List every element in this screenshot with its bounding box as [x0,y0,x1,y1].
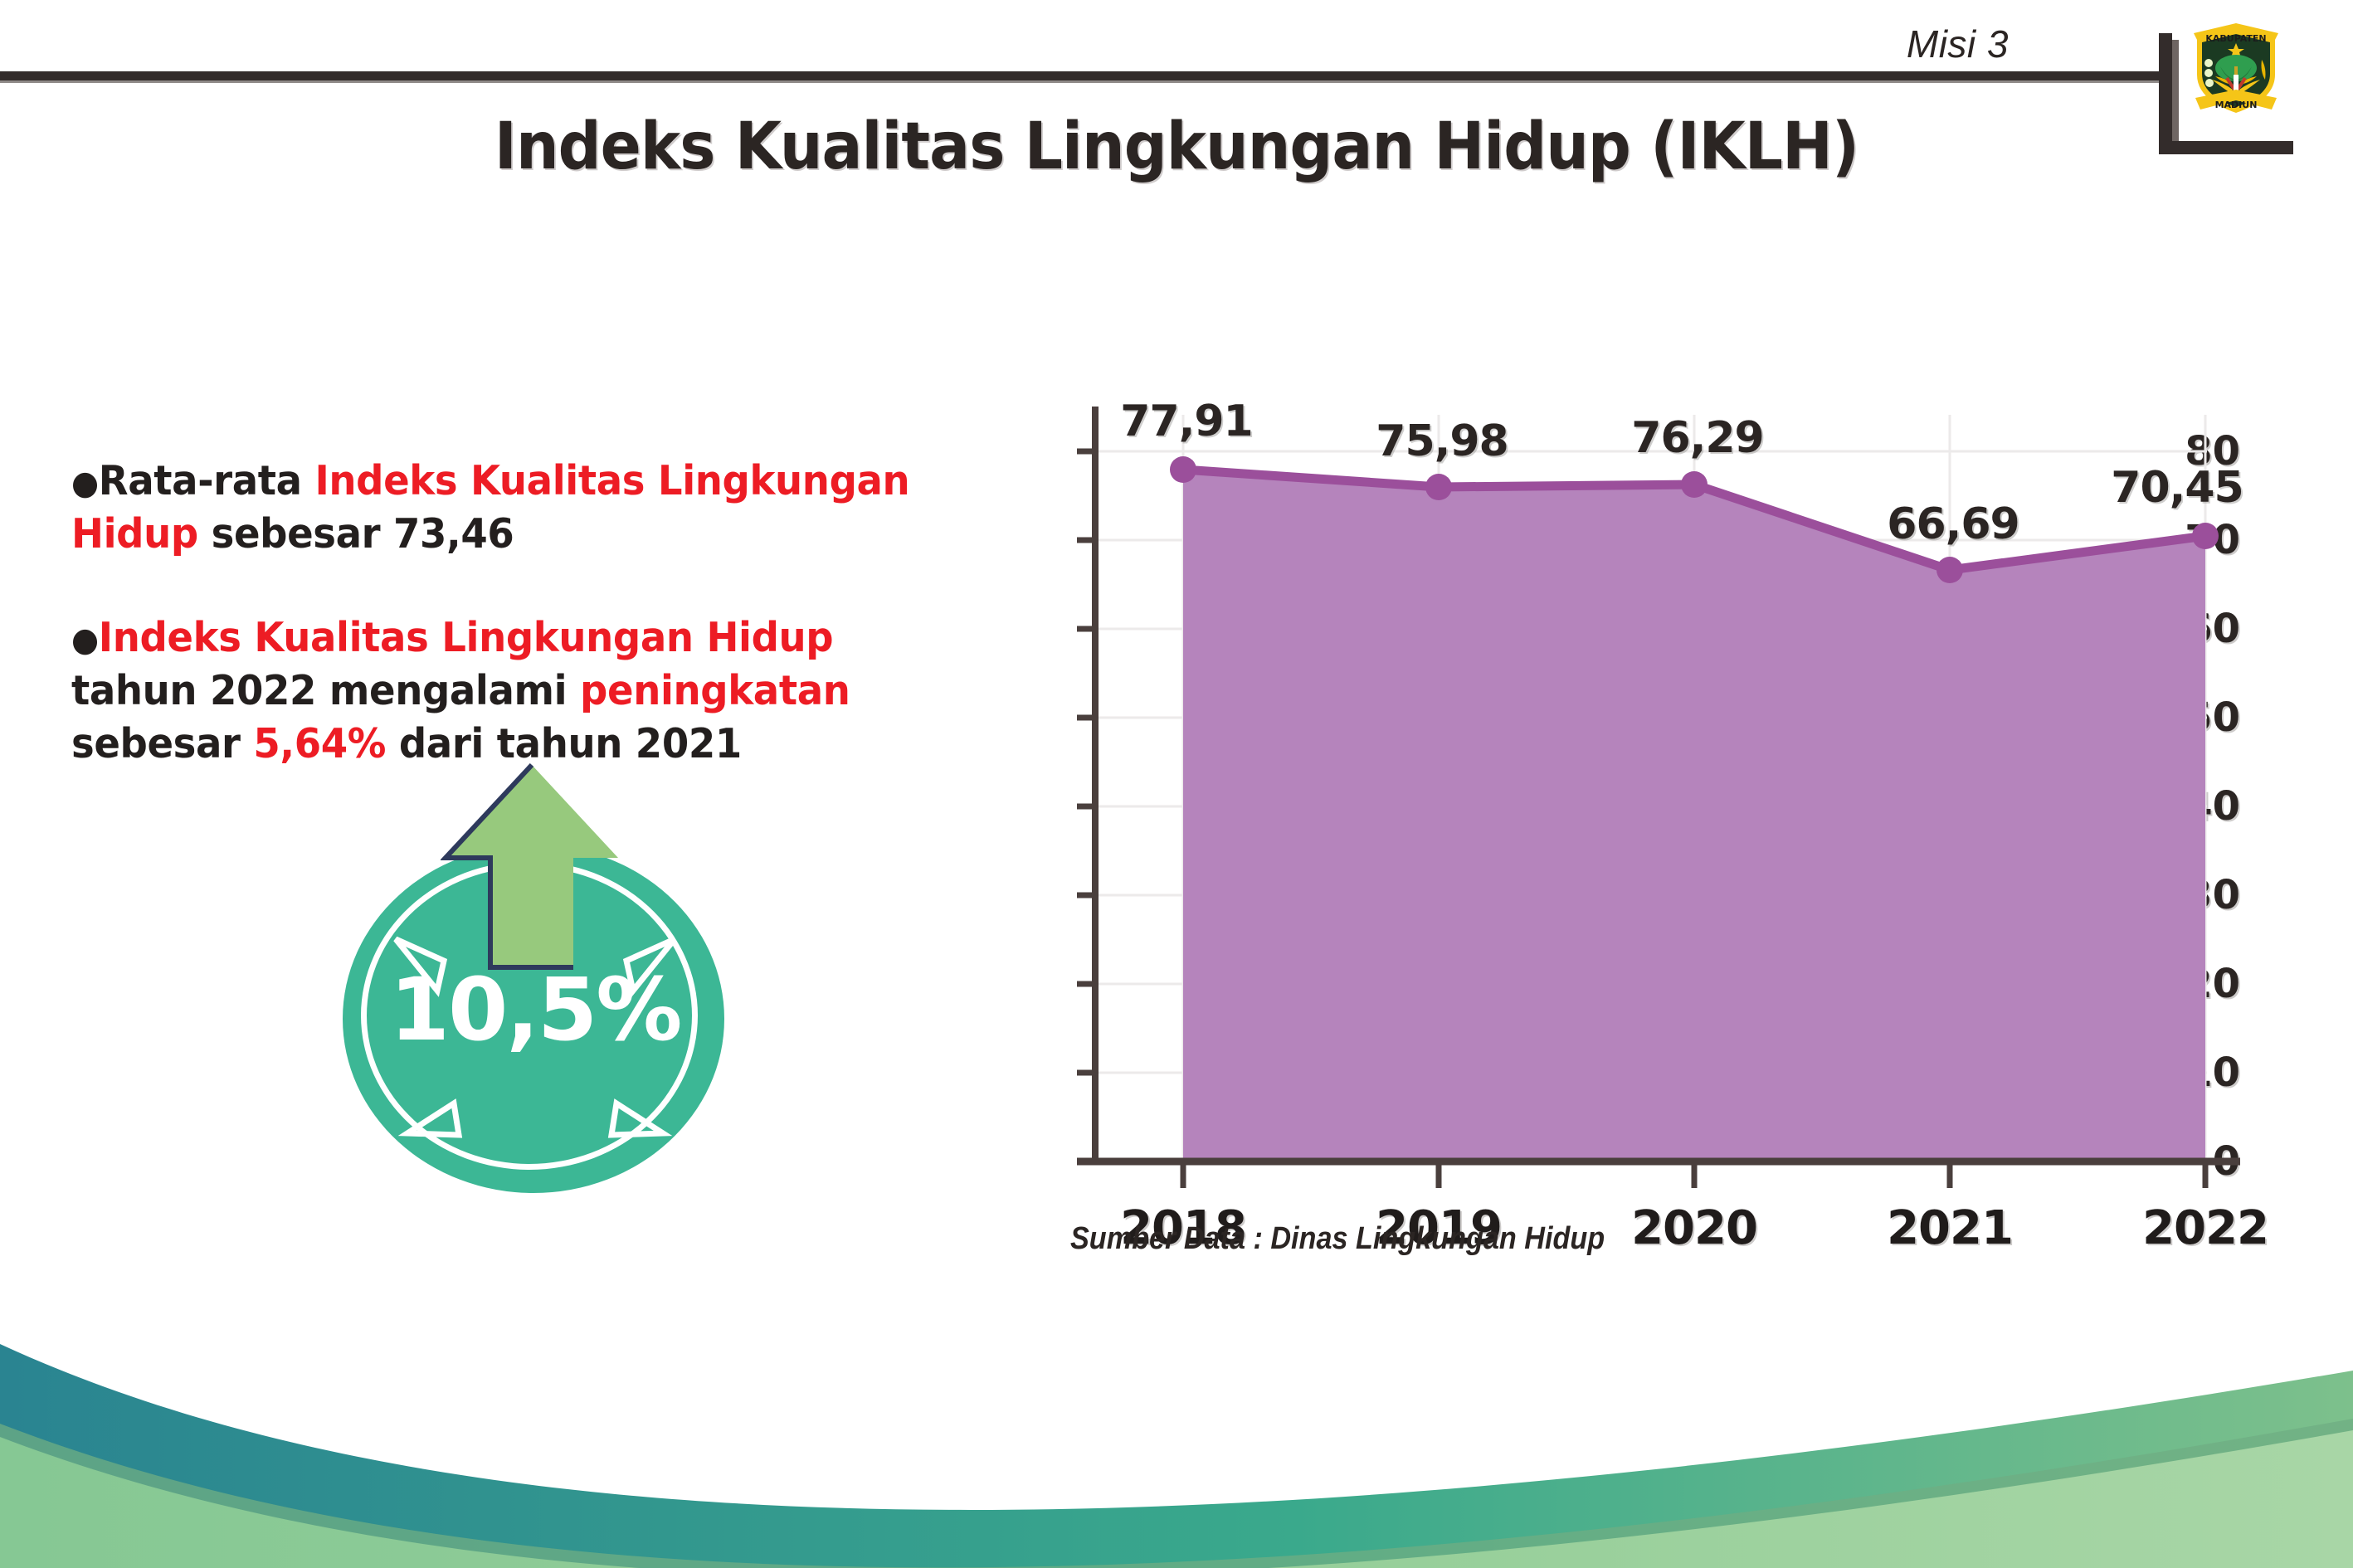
source-note: Sumber Data : Dinas Lingkungan Hidup [1070,1221,1605,1257]
data-label: 77,91 [1120,397,1252,446]
data-point [1681,471,1708,498]
bullet-text-0-part-0: Rata-rata [99,457,315,504]
page-title: Indeks Kualitas Lingkungan Hidup (IKLH) [82,110,2270,184]
x-tick-label: 2022 [2142,1201,2268,1255]
footer-waves [0,1294,2353,1568]
list-item: ●Rata-rata Indeks Kualitas Lingkungan Hi… [71,455,954,560]
infographic-page: Misi 3 KABUPATEN MADIUN I [0,0,2353,1568]
iklh-area-chart: 0 10 20 30 40 50 60 70 80 [979,290,2240,1286]
increase-badge: 10,5% [328,762,743,1193]
header-rule [0,71,2161,82]
list-item: ●Indeks Kualitas Lingkungan Hidup tahun … [71,611,954,770]
bullet-text-1-part-5: dari tahun 2021 [386,720,742,767]
data-point [1425,474,1452,500]
x-tick-label: 2020 [1631,1201,1757,1255]
area-fill [1183,470,2205,1161]
data-label: 70,45 [2111,463,2243,513]
footer: Media Infografis Data Statistik Sektoral… [0,1294,2353,1568]
bullet-text-1-part-4: 5,64% [253,720,386,767]
data-point [2192,523,2219,549]
bullet-text-1-part-1: tahun 2022 mengalami [71,667,580,714]
svg-text:KABUPATEN: KABUPATEN [2205,33,2266,44]
data-point [1170,456,1196,483]
data-label: 76,29 [1631,413,1763,463]
bullet-list: ●Rata-rata Indeks Kualitas Lingkungan Hi… [71,455,1001,770]
bullet-text-1-part-0: Indeks Kualitas Lingkungan Hidup [99,614,833,661]
bullet-dot: ● [71,465,99,503]
bullet-text-0-part-2: sebesar 73,46 [198,510,514,558]
data-label: 75,98 [1376,416,1508,466]
bullet-text-1-part-3: sebesar [71,720,253,767]
bullet-text-1-part-2: peningkatan [580,667,850,714]
misi-label: Misi 3 [1907,22,2009,66]
badge-percentage: 10,5% [328,959,743,1060]
x-tick-label: 2021 [1887,1201,2013,1255]
kabupaten-madiun-emblem-icon: KABUPATEN MADIUN [2187,12,2285,116]
bullet-dot: ● [71,621,99,660]
data-point [1936,557,1963,583]
data-label: 66,69 [1887,499,2019,549]
